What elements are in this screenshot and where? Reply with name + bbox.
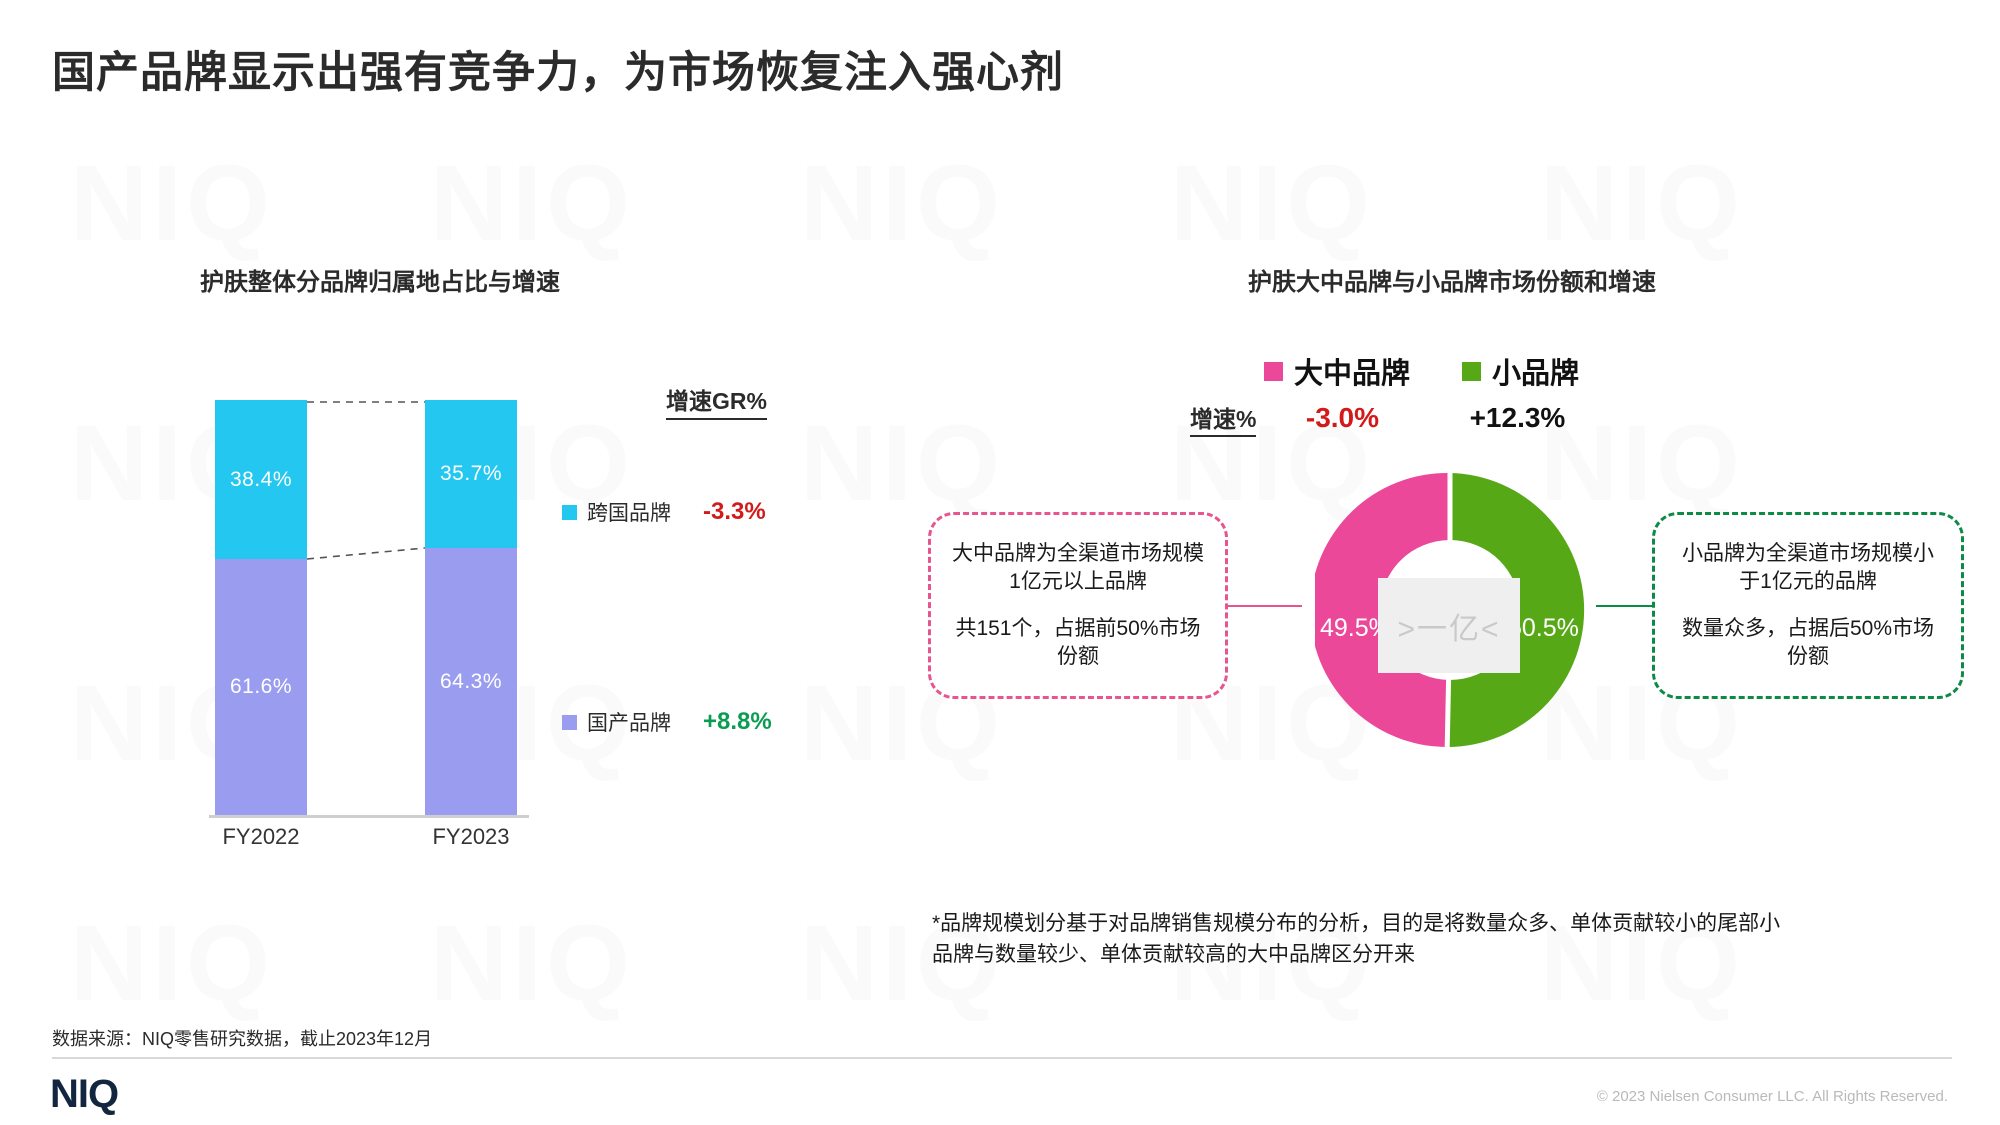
legend-item-intl-brands: 跨国品牌 -3.3% — [562, 497, 766, 527]
growth-rate-column-header: 增速GR% — [666, 382, 767, 420]
callout-line-1: 小品牌为全渠道市场规模小于1亿元的品牌 — [1675, 540, 1941, 596]
x-axis-tick-label: FY2022 — [191, 824, 331, 850]
bar-segment-domestic: 64.3% — [425, 548, 517, 815]
callout-small-brands: 小品牌为全渠道市场规模小于1亿元的品牌 数量众多，占据后50%市场份额 — [1652, 512, 1964, 699]
bar-segment-intl: 35.7% — [425, 400, 517, 548]
legend-label: 跨国品牌 — [587, 497, 671, 527]
legend-swatch-icon — [1462, 362, 1481, 381]
legend-growth-value: +8.8% — [703, 708, 772, 736]
data-source-line: 数据来源：NIQ零售研究数据，截止2023年12月 — [52, 1025, 432, 1051]
legend-label: 小品牌 — [1492, 350, 1579, 392]
copyright-text: © 2023 Nielsen Consumer LLC. All Rights … — [1597, 1088, 1948, 1105]
bar-column-fy2023: 35.7% 64.3% — [425, 400, 517, 815]
right-chart-heading: 护肤大中品牌与小品牌市场份额和增速 — [1248, 262, 1656, 297]
legend-item-small-brands: 小品牌 — [1462, 350, 1579, 392]
bar-segment-domestic: 61.6% — [215, 559, 307, 815]
legend-growth-value: -3.3% — [703, 498, 766, 526]
callout-leader-line-left — [1228, 605, 1302, 607]
growth-rate-label: 增速% — [1190, 400, 1256, 437]
legend-item-large-mid-brands: 大中品牌 — [1264, 350, 1410, 392]
callout-leader-line-right — [1596, 605, 1654, 607]
slide-root: NIQ NIQ NIQ NIQ NIQ NIQ NIQ NIQ NIQ NIQ … — [0, 0, 2000, 1125]
legend-swatch-icon — [562, 505, 577, 520]
donut-center-badge: >一亿< — [1378, 578, 1520, 673]
legend-label: 国产品牌 — [587, 707, 671, 737]
donut-growth-row: 增速% -3.0% +12.3% — [1190, 400, 1592, 437]
callout-line-1: 大中品牌为全渠道市场规模1亿元以上品牌 — [951, 540, 1205, 596]
footer-divider — [52, 1057, 1952, 1059]
bar-column-fy2022: 38.4% 61.6% — [215, 400, 307, 815]
x-axis-tick-label: FY2023 — [401, 824, 541, 850]
donut-legend: 大中品牌 小品牌 — [1264, 350, 1579, 392]
stacked-bar-chart: 38.4% 61.6% 35.7% 64.3% FY2022 FY2023 — [215, 400, 540, 825]
x-axis-line — [209, 815, 529, 818]
legend-label: 大中品牌 — [1294, 350, 1410, 392]
growth-value-small: +12.3% — [1442, 402, 1592, 434]
bar-segment-intl: 38.4% — [215, 400, 307, 559]
niq-logo: NIQ — [50, 1072, 118, 1117]
footnote-text: *品牌规模划分基于对品牌销售规模分布的分析，目的是将数量众多、单体贡献较小的尾部… — [932, 908, 1782, 970]
page-title: 国产品牌显示出强有竞争力，为市场恢复注入强心剂 — [52, 38, 1064, 100]
left-chart-heading: 护肤整体分品牌归属地占比与增速 — [200, 262, 560, 297]
legend-item-domestic-brands: 国产品牌 +8.8% — [562, 707, 772, 737]
callout-large-mid-brands: 大中品牌为全渠道市场规模1亿元以上品牌 共151个，占据前50%市场份额 — [928, 512, 1228, 699]
callout-line-2: 共151个，占据前50%市场份额 — [951, 615, 1205, 671]
callout-line-2: 数量众多，占据后50%市场份额 — [1675, 615, 1941, 671]
legend-swatch-icon — [562, 715, 577, 730]
legend-swatch-icon — [1264, 362, 1283, 381]
growth-value-large-mid: -3.0% — [1282, 402, 1402, 434]
